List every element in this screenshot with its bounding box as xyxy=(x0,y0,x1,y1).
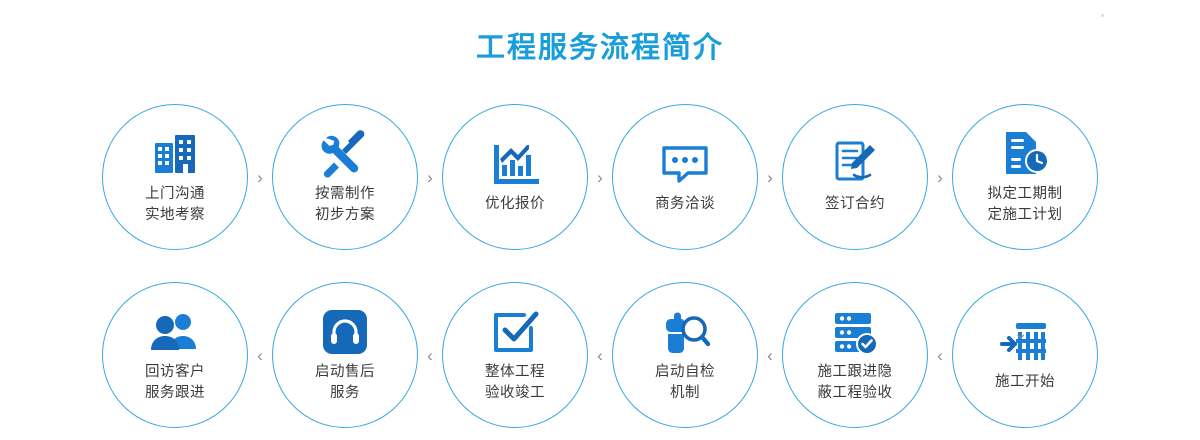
flow-node-schedule-plan[interactable]: 拟定工期制 定施工计划 xyxy=(952,104,1098,250)
flow-node-label: 商务洽谈 xyxy=(655,194,715,215)
flow-node-label: 启动自检 机制 xyxy=(655,362,715,404)
hand-search-icon xyxy=(660,306,710,358)
chat-bubble-icon xyxy=(659,138,711,190)
page-title: 工程服务流程简介 xyxy=(0,24,1200,66)
flow-node-draft-plan[interactable]: 按需制作 初步方案 xyxy=(272,104,418,250)
flow-arrow-left-5: ‹ xyxy=(928,347,952,364)
flow-node-label: 上门沟通 实地考察 xyxy=(145,184,205,226)
flow-node-label: 签订合约 xyxy=(825,194,885,215)
flow-node-self-inspection[interactable]: 启动自检 机制 xyxy=(612,282,758,428)
flow-node-construction-start[interactable]: 施工开始 xyxy=(952,282,1098,428)
flow-row-1: 上门沟通 实地考察 › 按需制作 初步方案 › xyxy=(0,92,1200,262)
flow-arrow-left-2: ‹ xyxy=(418,347,442,364)
flow-arrow-right-2: › xyxy=(418,169,442,186)
flow-node-sign-contract[interactable]: 签订合约 xyxy=(782,104,928,250)
flow-node-customer-followup[interactable]: 回访客户 服务跟进 xyxy=(102,282,248,428)
users-icon xyxy=(149,306,201,358)
flow-arrow-right-4: › xyxy=(758,169,782,186)
contract-pen-icon xyxy=(830,138,880,190)
flow-node-label: 回访客户 服务跟进 xyxy=(145,362,205,404)
flow-node-site-visit[interactable]: 上门沟通 实地考察 xyxy=(102,104,248,250)
flow-arrow-left-4: ‹ xyxy=(758,347,782,364)
flow-node-label: 启动售后 服务 xyxy=(315,362,375,404)
flow-arrow-right-5: › xyxy=(928,169,952,186)
headset-icon xyxy=(321,306,369,358)
flow-node-business-talk[interactable]: 商务洽谈 xyxy=(612,104,758,250)
flow-node-label: 按需制作 初步方案 xyxy=(315,184,375,226)
flow-node-hidden-works-check[interactable]: 施工跟进隐 蔽工程验收 xyxy=(782,282,928,428)
flow-arrow-left-3: ‹ xyxy=(588,347,612,364)
flow-node-label: 整体工程 验收竣工 xyxy=(485,362,545,404)
flow-node-project-acceptance[interactable]: 整体工程 验收竣工 xyxy=(442,282,588,428)
flow-row-2: 回访客户 服务跟进 ‹ 启动售后 服务 ‹ xyxy=(0,270,1200,440)
process-flow-diagram: 上门沟通 实地考察 › 按需制作 初步方案 › xyxy=(0,92,1200,440)
server-check-icon xyxy=(830,306,880,358)
flow-node-label: 拟定工期制 定施工计划 xyxy=(988,184,1063,226)
chart-down-icon xyxy=(490,138,540,190)
flow-node-optimize-quote[interactable]: 优化报价 xyxy=(442,104,588,250)
flow-node-after-sales[interactable]: 启动售后 服务 xyxy=(272,282,418,428)
tools-icon xyxy=(319,128,371,180)
flow-arrow-right-1: › xyxy=(248,169,272,186)
corner-dot xyxy=(1101,14,1104,17)
document-clock-icon xyxy=(1000,128,1050,180)
flow-node-label: 施工开始 xyxy=(995,372,1055,393)
building-icon xyxy=(150,128,200,180)
flow-node-label: 优化报价 xyxy=(485,194,545,215)
calendar-arrow-icon xyxy=(1000,316,1050,368)
checkbox-icon xyxy=(491,306,539,358)
flow-arrow-left-1: ‹ xyxy=(248,347,272,364)
flow-node-label: 施工跟进隐 蔽工程验收 xyxy=(818,362,893,404)
flow-arrow-right-3: › xyxy=(588,169,612,186)
